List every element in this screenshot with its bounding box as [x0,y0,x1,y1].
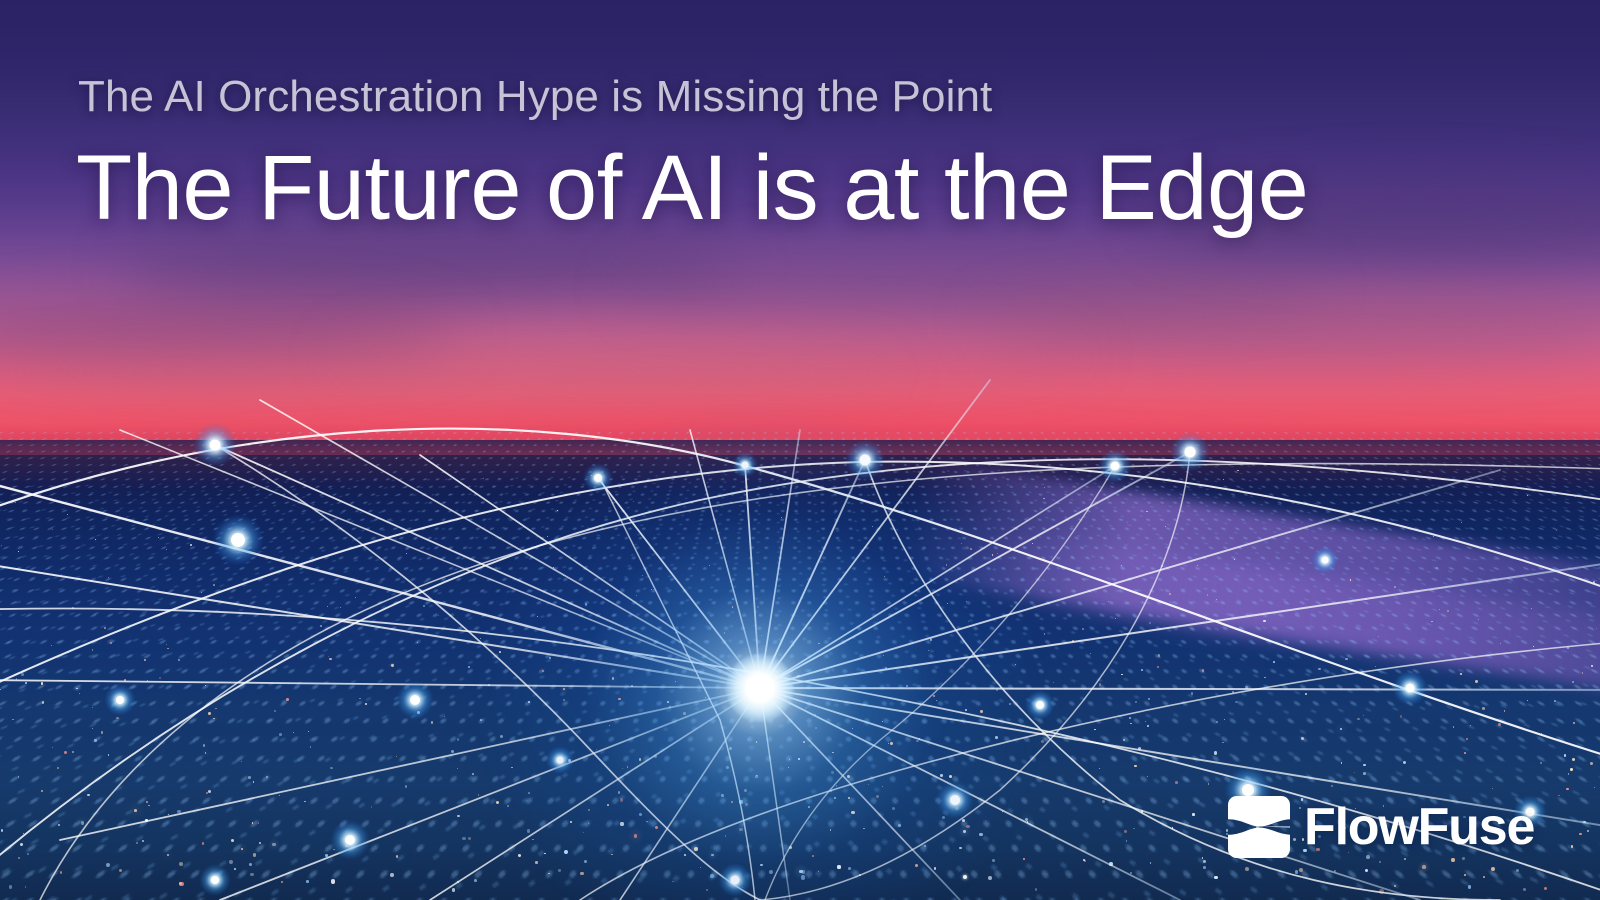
hero-kicker: The AI Orchestration Hype is Missing the… [78,72,992,122]
network-overlay [0,0,1600,900]
burst-core [726,654,794,722]
flowfuse-wordmark: FlowFuse [1304,801,1534,853]
hero-banner: The AI Orchestration Hype is Missing the… [0,0,1600,900]
hero-headline: The Future of AI is at the Edge [76,136,1308,241]
flowfuse-logo[interactable]: FlowFuse [1228,796,1534,858]
flowfuse-mark-icon [1228,796,1290,858]
